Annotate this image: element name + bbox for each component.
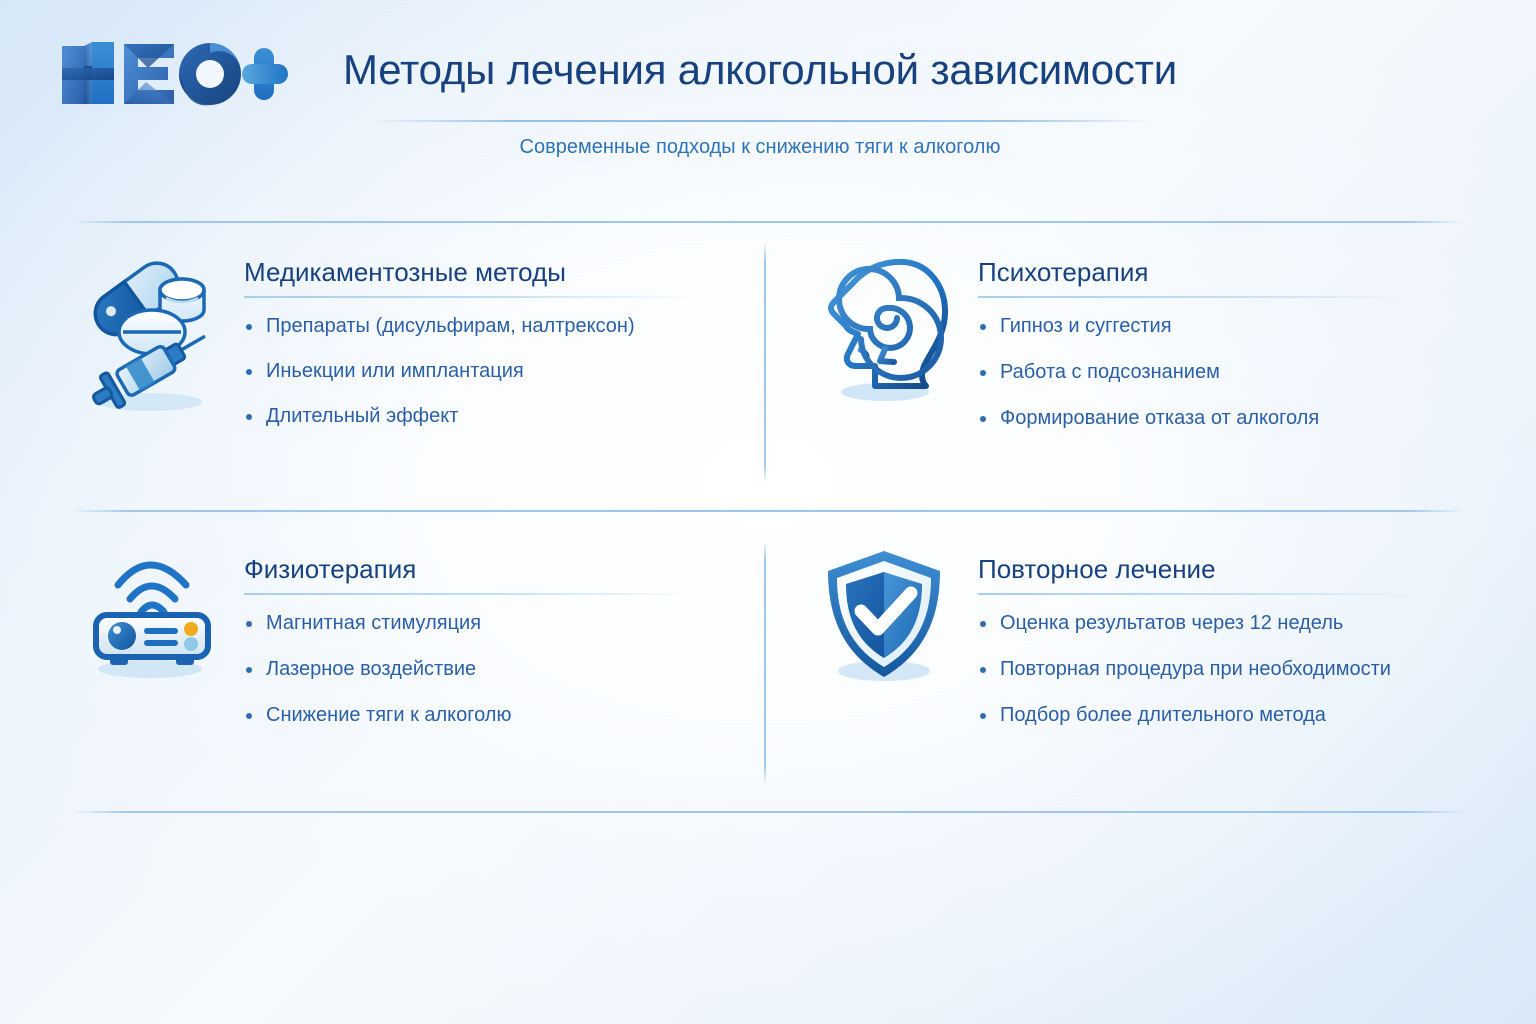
list-item: Повторная процедура при необходимости [978, 657, 1472, 681]
card-physiotherapy: Физиотерапия Магнитная стимуляция Лазерн… [78, 543, 738, 750]
page-title: Методы лечения алкогольной зависимости [300, 46, 1220, 94]
list-item: Оценка результатов через 12 недель [978, 611, 1472, 635]
page-subtitle: Современные подходы к снижению тяги к ал… [300, 136, 1220, 159]
grid-divider-top [72, 221, 1464, 223]
grid-divider-middle [72, 510, 1464, 512]
list-item: Работа с подсознанием [978, 360, 1472, 384]
grid-divider-bottom [72, 811, 1464, 813]
head-spiral-icon [812, 246, 962, 416]
card-body: Повторное лечение Оценка результатов чер… [962, 543, 1472, 750]
list-item: Гипноз и суггестия [978, 314, 1472, 338]
card-medication: Медикаментозные методы Препараты (дисуль… [78, 246, 738, 450]
card-psychotherapy: Психотерапия Гипноз и суггестия Работа с… [812, 246, 1472, 453]
grid-divider-vertical-bottom [764, 540, 766, 785]
therapy-device-icon [78, 543, 228, 693]
card-title: Медикаментозные методы [244, 258, 738, 287]
card-body: Психотерапия Гипноз и суггестия Работа с… [962, 246, 1472, 453]
header-divider [372, 120, 1152, 122]
list-item: Лазерное воздействие [244, 657, 738, 681]
list-item: Магнитная стимуляция [244, 611, 738, 635]
card-repeat-treatment: Повторное лечение Оценка результатов чер… [812, 543, 1472, 750]
list-item: Препараты (дисульфирам, налтрексон) [244, 314, 738, 338]
card-body: Медикаментозные методы Препараты (дисуль… [228, 246, 738, 450]
list-item: Длительный эффект [244, 404, 738, 428]
list-item: Подбор более длительного метода [978, 703, 1472, 727]
pills-syringe-icon [78, 246, 228, 416]
bullet-list: Препараты (дисульфирам, налтрексон) Инье… [244, 298, 738, 429]
bullet-list: Магнитная стимуляция Лазерное воздействи… [244, 595, 738, 728]
neo-plus-logo [58, 38, 290, 110]
infographic-page: Методы лечения алкогольной зависимости С… [0, 0, 1536, 1024]
card-title: Повторное лечение [978, 555, 1472, 584]
list-item: Снижение тяги к алкоголю [244, 703, 738, 727]
card-body: Физиотерапия Магнитная стимуляция Лазерн… [228, 543, 738, 750]
shield-check-icon [812, 543, 962, 693]
card-title: Психотерапия [978, 258, 1472, 287]
bullet-list: Гипноз и суггестия Работа с подсознанием… [978, 298, 1472, 431]
card-title: Физиотерапия [244, 555, 738, 584]
list-item: Формирование отказа от алкоголя [978, 406, 1472, 430]
bullet-list: Оценка результатов через 12 недель Повто… [978, 595, 1472, 728]
header: Методы лечения алкогольной зависимости С… [0, 0, 1536, 200]
grid-divider-vertical-top [764, 242, 766, 484]
list-item: Иньекции или имплантация [244, 359, 738, 383]
